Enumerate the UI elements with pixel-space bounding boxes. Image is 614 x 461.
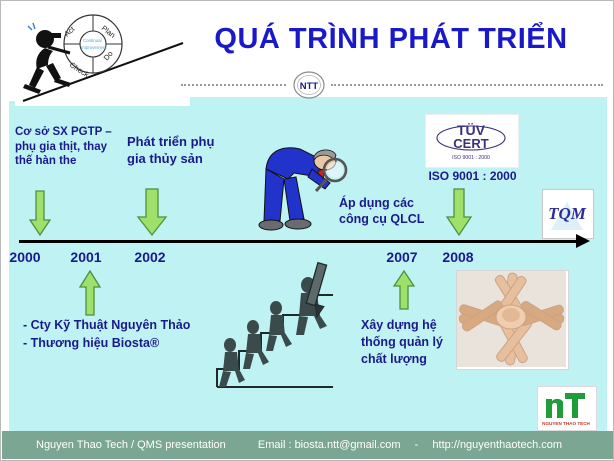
ntt-badge-logo: NTT <box>289 71 329 99</box>
title-rule-right <box>331 84 603 86</box>
ntt-badge-text: NTT <box>300 81 319 92</box>
footer-content: Nguyen Thao Tech / QMS presentation Emai… <box>2 439 562 451</box>
timeline-arrowhead <box>576 234 590 248</box>
timeline-axis <box>19 240 581 243</box>
footer-dash: - <box>415 439 419 451</box>
pdca-center-label: Continual <box>83 38 102 43</box>
slide-title: QUÁ TRÌNH PHÁT TRIỂN <box>181 23 601 56</box>
callout-qms: Xây dựng hệ thống quản lý chất lượng <box>361 317 451 368</box>
callout-company: - Cty Kỹ Thuật Nguyên Thảo - Thương hiệu… <box>23 316 223 352</box>
callout-company-line1: - Cty Kỹ Thuật Nguyên Thảo <box>23 316 223 334</box>
tqm-logo-text: TQM <box>548 204 587 223</box>
slide-body-notch <box>187 97 607 109</box>
footer-url[interactable]: http://nguyenthaotech.com <box>432 439 562 451</box>
callout-pgtp: Cơ sở SX PGTP – phụ gia thịt, thay thế h… <box>15 125 123 169</box>
teamwork-hands-photo <box>456 270 569 370</box>
down-arrow-2002 <box>135 187 169 242</box>
title-rule-left <box>181 84 286 86</box>
up-arrow-2007 <box>391 269 417 316</box>
stairs-climbers-clipart <box>213 259 341 391</box>
callout-company-line2: - Thương hiệu Biosta® <box>23 334 223 352</box>
timeline-year-2001: 2001 <box>61 249 111 265</box>
down-arrow-2000 <box>27 189 53 242</box>
tuv-logo-sub: CERT <box>453 136 488 151</box>
timeline-year-2000: 2000 <box>0 249 50 265</box>
timeline-year-2002: 2002 <box>125 249 175 265</box>
inspector-clipart <box>244 129 356 241</box>
company-logo: NGUYEN THAO TECH <box>537 386 597 431</box>
tuv-logo-small: ISO 9001 : 2000 <box>452 155 490 161</box>
timeline-year-2008: 2008 <box>433 249 483 265</box>
company-logo-name: NGUYEN THAO TECH <box>542 421 590 426</box>
presentation-slide: Plan Do Check Act Continual Improvement … <box>0 0 614 461</box>
slide-footer: Nguyen Thao Tech / QMS presentation Emai… <box>2 431 614 459</box>
pdca-center-label-2: Improvement <box>81 45 107 50</box>
pdca-wheel-clipart: Plan Do Check Act Continual Improvement <box>15 9 190 106</box>
callout-thuysan: Phát triển phụ gia thủy sản <box>127 134 227 167</box>
footer-left-label: Nguyen Thao Tech / QMS presentation <box>36 439 226 451</box>
tuv-cert-logo: TÜV CERT ISO 9001 : 2000 <box>425 114 519 168</box>
footer-email: Email : biosta.ntt@gmail.com <box>258 439 401 451</box>
up-arrow-2001 <box>77 269 103 322</box>
down-arrow-2007 <box>444 187 474 242</box>
timeline-year-2007: 2007 <box>377 249 427 265</box>
iso-caption: ISO 9001 : 2000 <box>405 169 540 184</box>
tqm-logo: TQM <box>542 189 594 239</box>
